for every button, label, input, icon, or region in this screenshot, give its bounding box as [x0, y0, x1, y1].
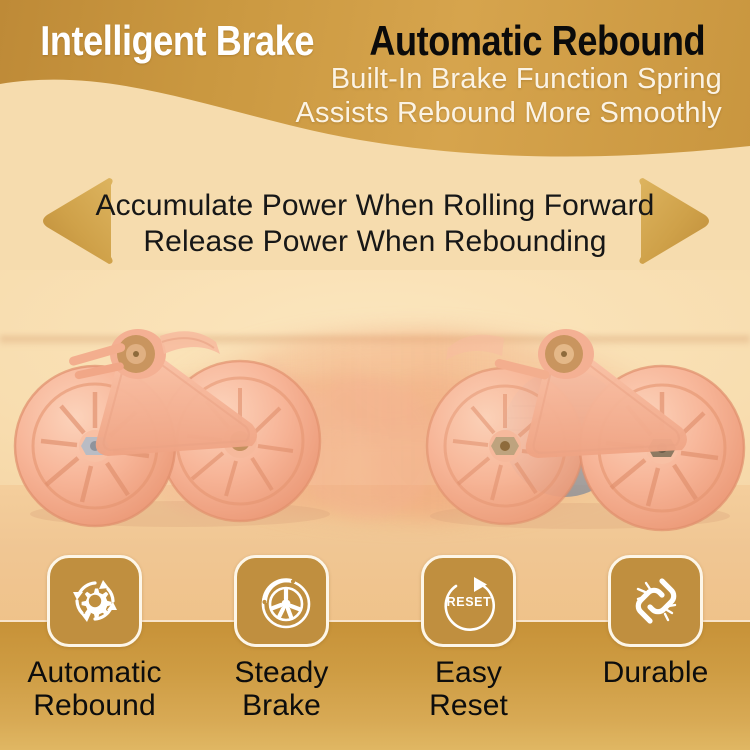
chain-link-icon [624, 569, 688, 633]
title-secondary: Automatic Rebound [369, 19, 705, 63]
feature-item-automatic-rebound[interactable]: Automatic Rebound [1, 555, 188, 722]
feature-tile[interactable]: RESET [421, 555, 516, 647]
feature-label: Steady Brake [235, 656, 329, 722]
feature-label-line-2: Reset [429, 689, 508, 722]
page-title: Intelligent Brake Automatic Rebound [0, 18, 750, 64]
subtitle-line-1: Built-In Brake Function Spring [32, 62, 722, 96]
banner-text: Accumulate Power When Rolling Forward Re… [0, 188, 750, 260]
reset-icon-text: RESET [446, 595, 491, 609]
feature-label-line-1: Steady [235, 656, 329, 689]
ab-roller-left [10, 296, 370, 551]
reset-circular-arrow-icon: RESET [436, 568, 502, 634]
feature-label: Easy Reset [429, 656, 508, 722]
feature-label-line-1: Durable [603, 656, 709, 689]
header-band: Intelligent Brake Automatic Rebound Buil… [0, 0, 750, 170]
feature-item-steady-brake[interactable]: Steady Brake [188, 555, 375, 722]
product-poster: Intelligent Brake Automatic Rebound Buil… [0, 0, 750, 750]
gear-rotation-icon [62, 568, 128, 634]
feature-label-line-2: Brake [235, 689, 329, 722]
feature-label-line-1: Easy [429, 656, 508, 689]
feature-label-line-2: Rebound [27, 689, 161, 722]
title-primary: Intelligent Brake [40, 19, 314, 63]
feature-tile[interactable] [47, 555, 142, 647]
banner-line-2: Release Power When Rebounding [0, 224, 750, 260]
feature-item-durable[interactable]: Durable [562, 555, 749, 689]
feature-label-line-1: Automatic [27, 656, 161, 689]
subtitle-line-2: Assists Rebound More Smoothly [32, 96, 722, 130]
feature-list: Automatic Rebound [0, 555, 750, 750]
feature-item-easy-reset[interactable]: RESET Easy Reset [375, 555, 562, 722]
banner-line-1: Accumulate Power When Rolling Forward [0, 188, 750, 224]
feature-tile[interactable] [608, 555, 703, 647]
feature-label: Durable [603, 656, 709, 689]
header-subtitle: Built-In Brake Function Spring Assists R… [32, 62, 722, 130]
ab-roller-right [400, 298, 750, 553]
brake-disc-icon [250, 569, 314, 633]
feature-label: Automatic Rebound [27, 656, 161, 722]
feature-tile[interactable] [234, 555, 329, 647]
